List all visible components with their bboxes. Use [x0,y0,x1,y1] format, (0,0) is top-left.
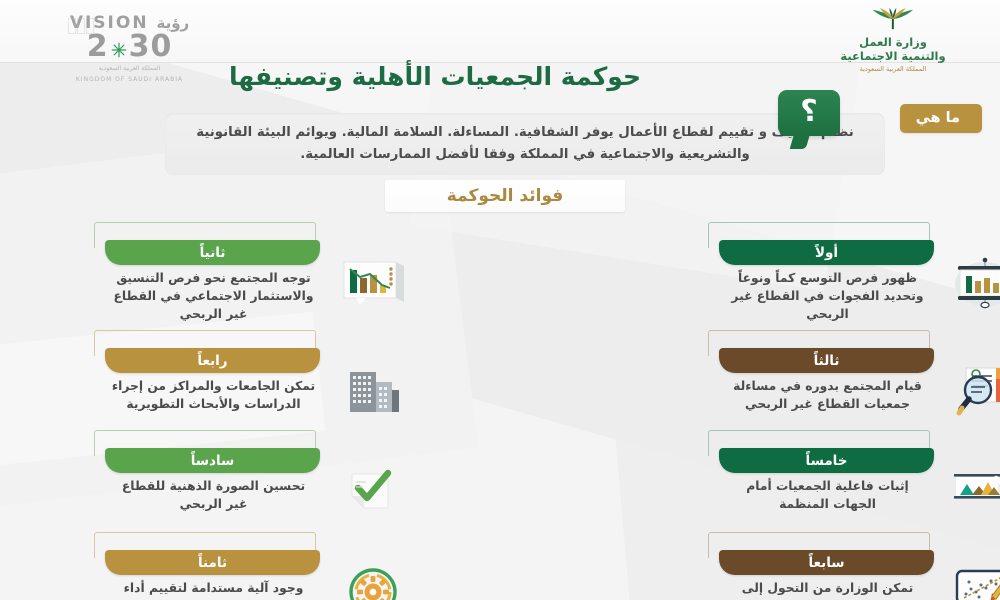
benefit-order-label: خامساً [806,453,848,469]
ministry-logo: وزارة العمل والتنمية الاجتماعية المملكة … [808,8,978,68]
page-title: حوكمة الجمعيات الأهلية وتصنيفها [125,62,745,91]
gear-cycle-icon [336,562,410,600]
benefit-item: ثالثاًقيام المجتمع بدوره في مساءلة جمعيا… [572,330,992,430]
benefit-item: أولاًظهور فرص التوسع كماً ونوعاً وتحديد … [572,222,992,322]
benefit-order-banner: ثالثاً [719,348,934,373]
benefit-item: رابعاًتمكن الجامعات والمراكز من إجراء ال… [8,330,428,430]
benefit-description: تحسين الصورة الذهنية للقطاع غير الربحي [111,477,316,513]
presenter-person-chart-icon [948,460,1000,520]
benefit-item: ثانياًتوجه المجتمع نحو فرص التنسيق والاس… [8,222,428,322]
benefit-description: توجه المجتمع نحو فرص التنسيق والاستثمار … [111,269,316,324]
benefit-order-banner: سادساً [105,448,320,473]
benefit-order-label: سابعاً [808,555,844,571]
benefit-description: تمكن الجامعات والمراكز من إجراء الدراسات… [111,377,316,413]
infographic-canvas: VISION رؤية 2 30 المملكة العربية السعودي… [0,0,1000,600]
whatis-badge: ما هي [900,104,982,133]
benefit-item: خامساًإثبات فاعلية الجمعيات أمام الجهات … [572,430,992,530]
benefit-order-banner: ثانياً [105,240,320,265]
question-bubble-icon: ؟ [778,90,840,136]
benefit-description: ظهور فرص التوسع كماً ونوعاً وتحديد الفجو… [725,269,930,324]
whatis-description: نظام تصنيف و تقييم لقطاع الأعمال يوفر ال… [180,122,870,165]
magnifier-document-icon [948,360,1000,420]
benefit-description: قيام المجتمع بدوره في مساءلة جمعيات القط… [725,377,930,413]
benefit-order-banner: رابعاً [105,348,320,373]
benefit-order-banner: خامساً [719,448,934,473]
checkmark-page-icon [336,460,410,520]
benefit-order-banner: أولاً [719,240,934,265]
question-mark-glyph: ؟ [778,90,840,136]
ministry-line-1: وزارة العمل [808,35,978,49]
bar-chart-trend-icon [336,252,410,312]
ministry-line-2: والتنمية الاجتماعية [808,49,978,63]
buildings-icon [336,360,410,420]
benefits-heading: فوائد الحوكمة [385,180,625,212]
benefit-order-label: ثالثاً [814,353,840,369]
benefit-order-label: أولاً [815,245,838,261]
benefit-order-banner: ثامناً [105,550,320,575]
benefit-description: وجود آلية مستدامة لتقييم أداء الجمعيات [111,579,316,600]
benefit-item: ثامناًوجود آلية مستدامة لتقييم أداء الجم… [8,532,428,600]
benefit-order-label: سادساً [191,453,235,469]
scatter-plot-easel-pencil-icon [948,562,1000,600]
saudi-palm-emblem-icon [110,41,128,59]
benefit-item: سادساًتحسين الصورة الذهنية للقطاع غير ال… [8,430,428,530]
benefit-order-label: ثامناً [198,555,227,571]
ministry-palm-icon [859,8,927,30]
benefit-item: سابعاًتمكن الوزارة من التحول إلى الإدارة… [572,532,992,600]
benefit-description: تمكن الوزارة من التحول إلى الإدارة المبن… [725,579,930,600]
presentation-board-bar-chart-icon [948,252,1000,312]
benefit-order-label: ثانياً [200,245,226,261]
benefit-order-label: رابعاً [197,353,227,369]
ministry-line-3: المملكة العربية السعودية [808,65,978,73]
vision-number: 2 30 [42,32,217,62]
benefit-description: إثبات فاعلية الجمعيات أمام الجهات المنظم… [725,477,930,513]
benefit-order-banner: سابعاً [719,550,934,575]
